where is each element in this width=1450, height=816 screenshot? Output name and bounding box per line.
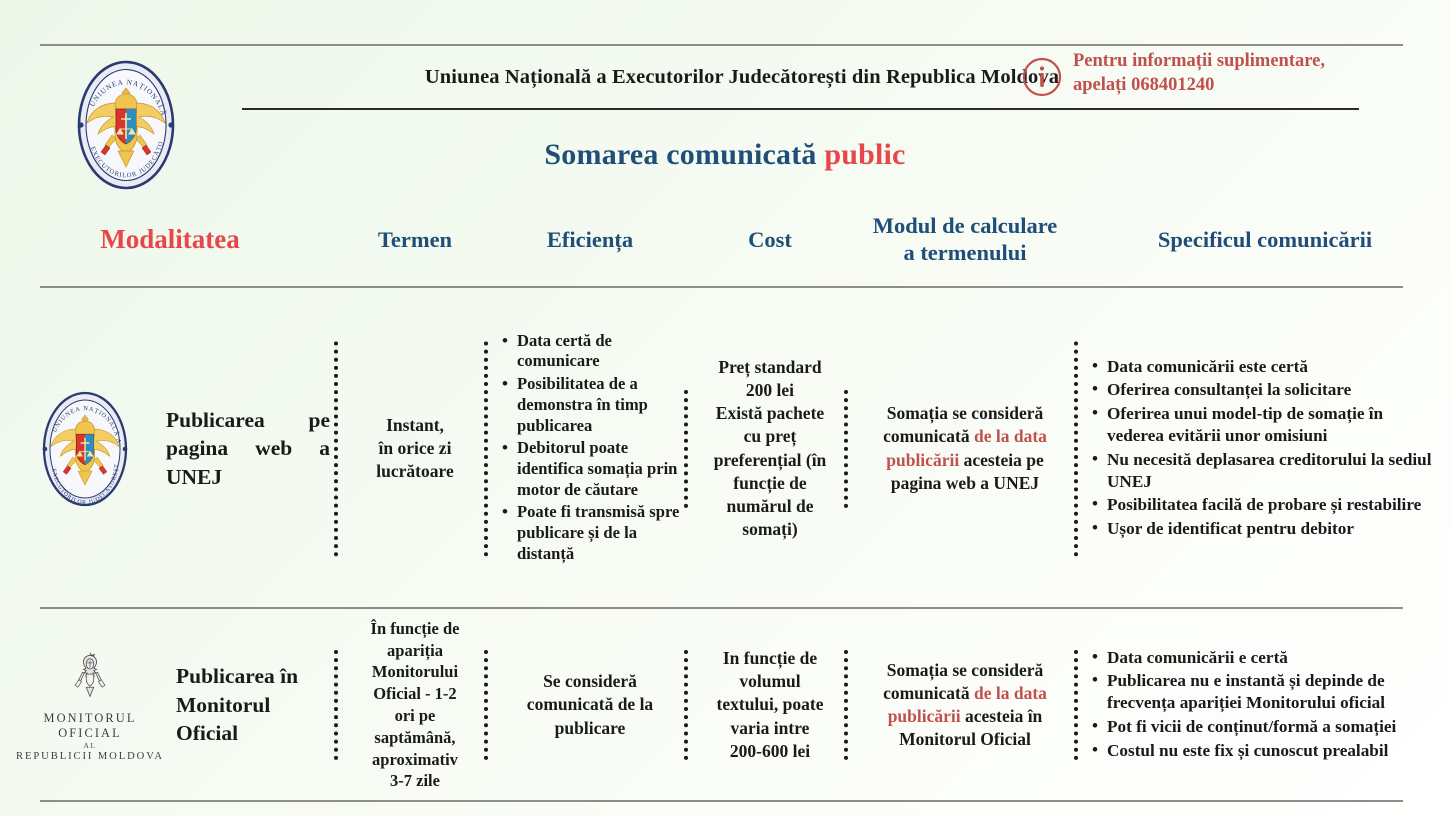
column-header-modul-de-calculare: Modul de calculare a termenului bbox=[850, 213, 1080, 266]
monitorul-oficial-al: AL bbox=[10, 741, 170, 750]
row1-termen-cell: Instant, în orice zi lucrătoare bbox=[340, 296, 490, 601]
row2-eficienta-line1: Se consideră bbox=[543, 671, 637, 691]
row2-modul-text: Somația se consideră comunicată de la da… bbox=[860, 659, 1070, 751]
row2-termen-line8: 3-7 zile bbox=[390, 771, 440, 790]
column-header-termen: Termen bbox=[340, 227, 490, 254]
row2-specific-cell: Data comunicării e certă Publicarea nu e… bbox=[1080, 612, 1450, 798]
monitorul-oficial-logo: MONITORUL OFICIAL AL REPUBLICII MOLDOVA bbox=[10, 648, 170, 762]
row2-cost-line3: textului, poate bbox=[717, 694, 824, 714]
row2-termen-line3: Monitorului bbox=[372, 662, 458, 681]
column-header-eficienta: Eficiența bbox=[490, 227, 690, 254]
column-header-modul-line2: a termenului bbox=[903, 240, 1026, 265]
list-item: Nu necesită deplasarea creditorului la s… bbox=[1090, 449, 1440, 493]
monitorul-oficial-sub: REPUBLICII MOLDOVA bbox=[10, 751, 170, 762]
row1-eficienta-cell: Data certă de comunicare Posibilitatea d… bbox=[490, 296, 690, 601]
page-title-accent: public bbox=[824, 138, 905, 171]
row2-modul-cell: Somația se consideră comunicată de la da… bbox=[850, 612, 1080, 798]
list-item: Oferirea unui model-tip de somație în ve… bbox=[1090, 403, 1440, 447]
row2-cost-cell: In funcție de volumul textului, poate va… bbox=[690, 612, 850, 798]
contact-info-line1: Pentru informații suplimentare, bbox=[1073, 51, 1325, 71]
row2-eficienta-line3: publicare bbox=[555, 718, 626, 738]
info-circle-icon bbox=[1022, 57, 1062, 97]
row2-specific-list: Data comunicării e certă Publicarea nu e… bbox=[1090, 647, 1440, 763]
column-header-modul-line1: Modul de calculare bbox=[873, 213, 1058, 238]
row2-eficienta-text: Se consideră comunicată de la publicare bbox=[527, 670, 653, 739]
row1-termen-line2: în orice zi bbox=[379, 438, 452, 458]
row1-cost-cell: Preț standard 200 lei Există pachete cu … bbox=[690, 296, 850, 601]
row1-specific-list: Data comunicării este certă Oferirea con… bbox=[1090, 356, 1440, 541]
table-row: UNIUNEA NAȚIONALĂ A EXECUTORILOR JUDECĂT… bbox=[0, 296, 1450, 601]
list-item: Debitorul poate identifica somația prin … bbox=[500, 438, 680, 501]
row1-cost-line1: Preț standard bbox=[718, 357, 821, 377]
table-row: MONITORUL OFICIAL AL REPUBLICII MOLDOVA … bbox=[0, 612, 1450, 798]
row1-cost-line6: funcție de bbox=[733, 473, 806, 493]
row1-eficienta-list: Data certă de comunicare Posibilitatea d… bbox=[500, 331, 680, 567]
list-item: Posibilitatea facilă de probare și resta… bbox=[1090, 494, 1440, 516]
row2-cost-line4: varia intre bbox=[731, 718, 810, 738]
row2-termen-line1: În funcție de bbox=[371, 619, 460, 638]
row2-termen-line6: saptămână, bbox=[374, 728, 455, 747]
contact-info-text: Pentru informații suplimentare, apelați … bbox=[1073, 50, 1325, 97]
list-item: Posibilitatea de a demonstra în timp pub… bbox=[500, 374, 680, 437]
column-header-rule bbox=[40, 286, 1403, 288]
contact-info-block: Pentru informații suplimentare, apelați … bbox=[1022, 50, 1325, 97]
list-item: Publicarea nu e instantă și depinde de f… bbox=[1090, 670, 1440, 714]
row2-termen-text: În funcție de apariția Monitorului Ofici… bbox=[371, 618, 460, 792]
table-column-headers: Modalitatea Termen Eficiența Cost Modul … bbox=[0, 200, 1450, 280]
row2-cost-line2: volumul bbox=[739, 671, 800, 691]
page-title: Somarea comunicată public bbox=[0, 138, 1450, 172]
row2-termen-line5: ori pe bbox=[395, 706, 436, 725]
column-header-specificul: Specificul comunicării bbox=[1080, 227, 1450, 254]
row2-termen-cell: În funcție de apariția Monitorului Ofici… bbox=[340, 612, 490, 798]
unej-emblem-logo: UNIUNEA NAȚIONALĂ A EXECUTORILOR JUDECĂT… bbox=[10, 387, 160, 511]
row1-modul-text: Somația se consideră comunicată de la da… bbox=[860, 402, 1070, 494]
page-title-main: Somarea comunicată bbox=[544, 138, 816, 171]
list-item: Pot fi vicii de conținut/formă a somație… bbox=[1090, 716, 1440, 738]
column-header-modalitatea: Modalitatea bbox=[0, 224, 340, 256]
row1-termen-line3: lucrătoare bbox=[376, 461, 453, 481]
list-item: Data comunicării e certă bbox=[1090, 647, 1440, 669]
row2-termen-line2: apariția bbox=[387, 641, 443, 660]
row2-eficienta-line2: comunicată de la bbox=[527, 694, 653, 714]
row1-cost-text: Preț standard 200 lei Există pachete cu … bbox=[714, 356, 827, 541]
row1-cost-line8: somați) bbox=[742, 519, 797, 539]
list-item: Costul nu este fix și cunoscut prealabil bbox=[1090, 740, 1440, 762]
row2-modality-label: Publicarea în Monitorul Oficial bbox=[176, 662, 330, 747]
header-under-rule bbox=[242, 108, 1359, 110]
row1-modality-label: Publicarea pe pagina web a UNEJ bbox=[166, 406, 330, 491]
list-item: Ușor de identificat pentru debitor bbox=[1090, 518, 1440, 540]
header-top-rule bbox=[40, 44, 1403, 46]
row2-eficienta-cell: Se consideră comunicată de la publicare bbox=[490, 612, 690, 798]
row1-cost-line7: numărul de bbox=[726, 496, 813, 516]
row1-cost-line4: cu preț bbox=[744, 426, 797, 446]
column-header-cost: Cost bbox=[690, 227, 850, 254]
list-item: Data comunicării este certă bbox=[1090, 356, 1440, 378]
row2-termen-line4: Oficial - 1-2 bbox=[373, 684, 456, 703]
row1-modul-cell: Somația se consideră comunicată de la da… bbox=[850, 296, 1080, 601]
row1-cost-line3: Există pachete bbox=[716, 403, 824, 423]
row1-modality-cell: UNIUNEA NAȚIONALĂ A EXECUTORILOR JUDECĂT… bbox=[0, 296, 340, 601]
list-item: Oferirea consultanței la solicitare bbox=[1090, 379, 1440, 401]
unej-emblem-logo: UNIUNEA NAȚIONALĂ A EXECUTORILOR JUDECĂT… bbox=[62, 55, 190, 195]
contact-info-line2: apelați 068401240 bbox=[1073, 75, 1214, 95]
row1-cost-line5: preferențial (în bbox=[714, 450, 827, 470]
row2-cost-line5: 200-600 lei bbox=[730, 741, 810, 761]
row2-cost-text: In funcție de volumul textului, poate va… bbox=[717, 647, 824, 762]
row1-termen-text: Instant, în orice zi lucrătoare bbox=[376, 414, 453, 483]
row2-modality-cell: MONITORUL OFICIAL AL REPUBLICII MOLDOVA … bbox=[0, 612, 340, 798]
row2-termen-line7: aproximativ bbox=[372, 750, 458, 769]
monitorul-oficial-name: MONITORUL OFICIAL bbox=[10, 711, 170, 741]
page-header: UNIUNEA NAȚIONALĂ A EXECUTORILOR JUDECĂT… bbox=[0, 0, 1450, 190]
row1-specific-cell: Data comunicării este certă Oferirea con… bbox=[1080, 296, 1450, 601]
row2-cost-line1: In funcție de bbox=[723, 648, 817, 668]
list-item: Data certă de comunicare bbox=[500, 331, 680, 373]
table-bottom-rule bbox=[40, 800, 1403, 802]
row-separator-rule bbox=[40, 607, 1403, 609]
row1-cost-line2: 200 lei bbox=[746, 380, 794, 400]
list-item: Poate fi transmisă spre publicare și de … bbox=[500, 502, 680, 565]
row1-termen-line1: Instant, bbox=[386, 415, 444, 435]
